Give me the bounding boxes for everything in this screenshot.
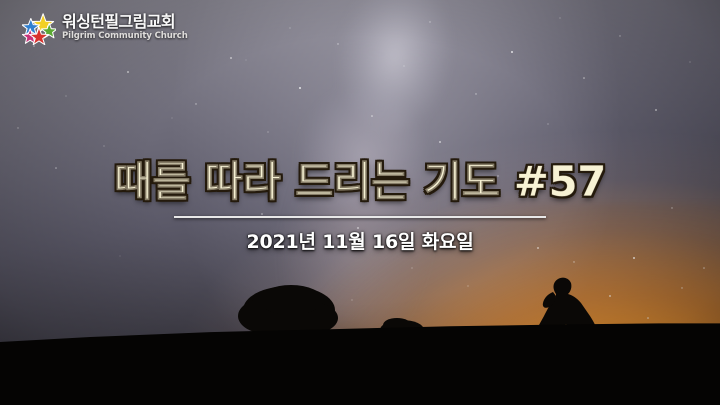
- slide-title: 때를 따라 드리는 기도 #57: [0, 160, 720, 205]
- slide-date: 2021년 11월 16일 화요일: [0, 227, 720, 254]
- logo-english-name: Pilgrim Community Church: [62, 32, 188, 41]
- slide-text-block: 때를 따라 드리는 기도 #57 2021년 11월 16일 화요일: [0, 160, 720, 254]
- church-logo: 워싱턴필그림교회 Pilgrim Community Church: [22, 10, 188, 44]
- logo-text-block: 워싱턴필그림교회 Pilgrim Community Church: [62, 14, 188, 41]
- logo-korean-name: 워싱턴필그림교회: [62, 14, 188, 30]
- title-divider: [174, 216, 546, 218]
- multicolor-star-cluster-icon: [22, 11, 56, 45]
- worship-slide: 워싱턴필그림교회 Pilgrim Community Church 때를 따라 …: [0, 0, 720, 405]
